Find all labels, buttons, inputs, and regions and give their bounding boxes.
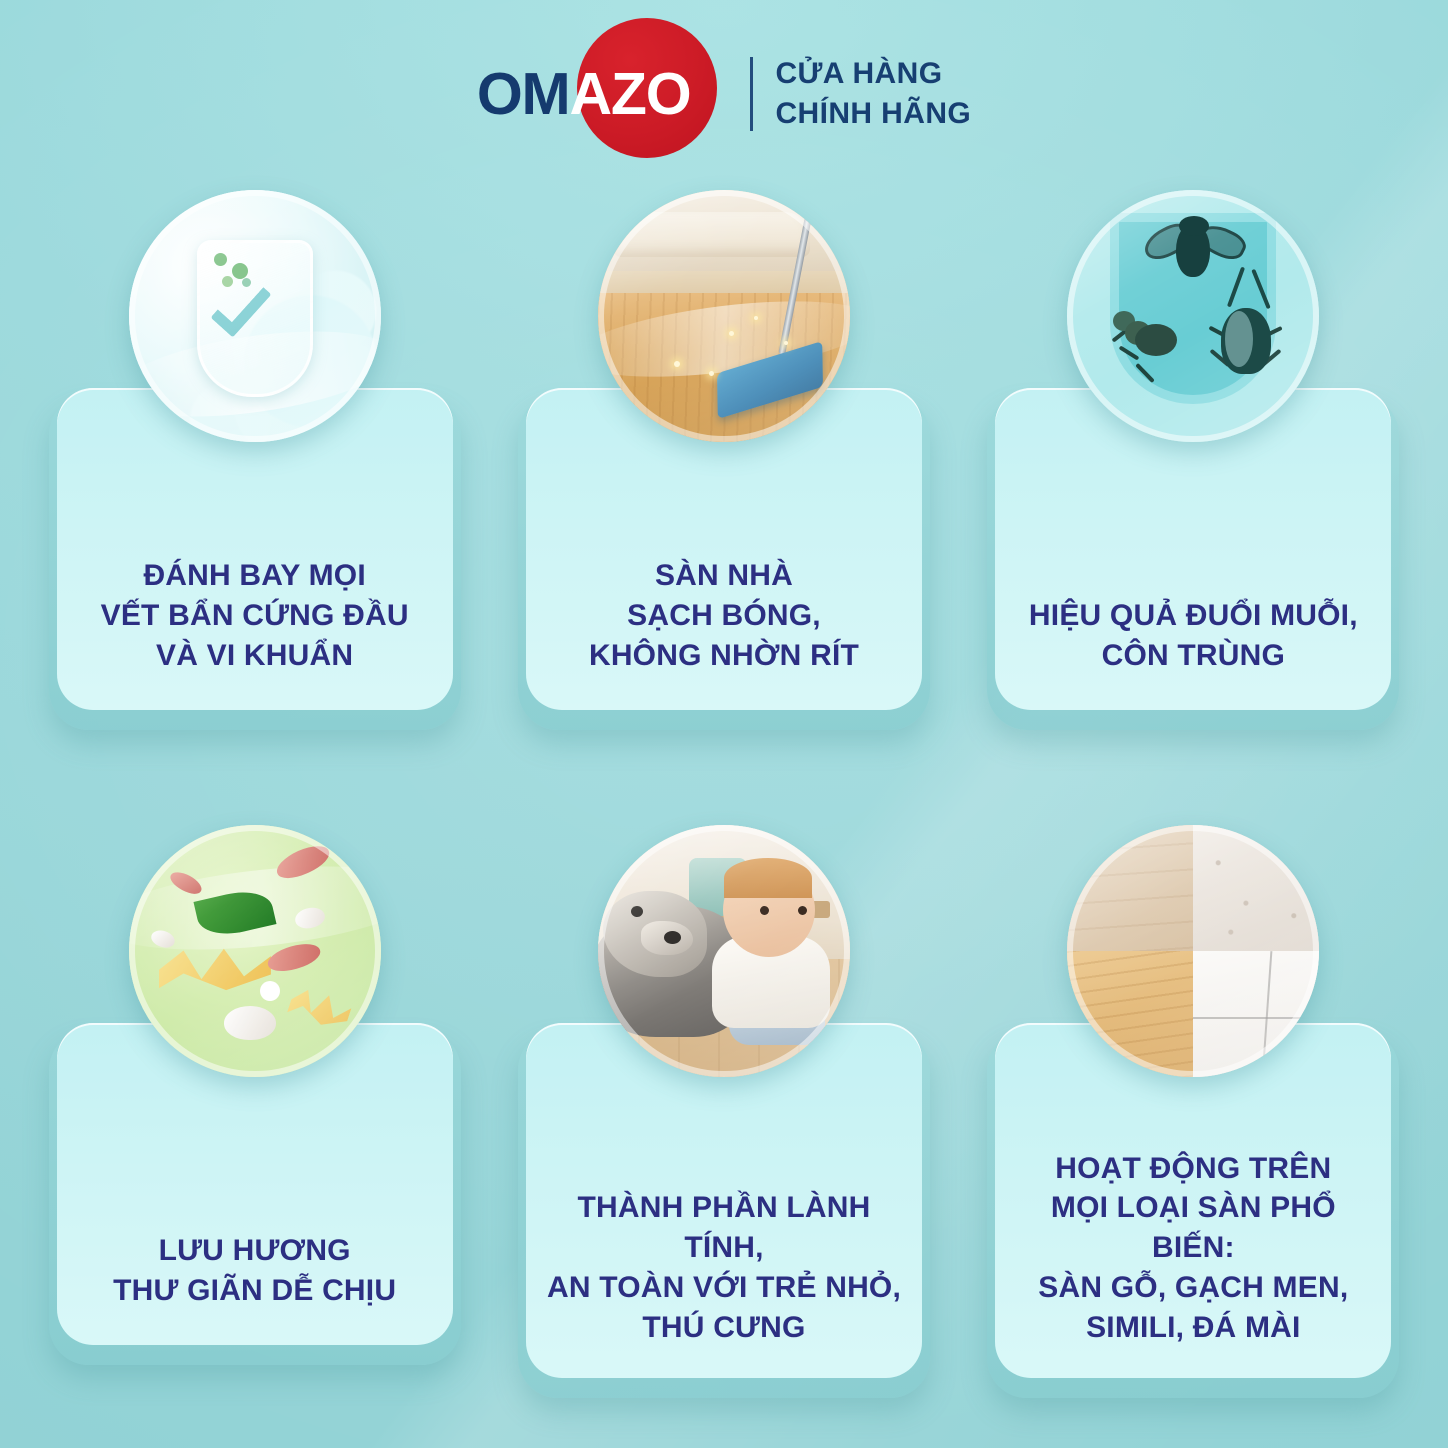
floor-transition-strip: [598, 271, 850, 296]
brand-logo-lockup[interactable]: OMAZO CỬA HÀNG CHÍNH HÃNG: [477, 54, 971, 133]
feature-card-safe-ingredients[interactable]: THÀNH PHẦN LÀNH TÍNH, AN TOÀN VỚI TRẺ NH…: [489, 825, 958, 1415]
roach-shell-icon: [1225, 311, 1253, 367]
brand-header: OMAZO CỬA HÀNG CHÍNH HÃNG: [0, 24, 1448, 164]
floor-sample-terrazzo: [1193, 825, 1319, 951]
fragrance-scene: [129, 825, 381, 1077]
feature-card-stain-bacteria[interactable]: ĐÁNH BAY MỌI VẾT BẨN CỨNG ĐẦU VÀ VI KHUẨ…: [20, 190, 489, 780]
baby-pet-safe-icon: [598, 825, 850, 1077]
bubble-shield-check-icon: [129, 190, 381, 442]
insect-scene: [1067, 190, 1319, 442]
citrus-peel-icon: [286, 983, 354, 1034]
ant-abdomen-icon: [1135, 324, 1177, 356]
brand-tagline: CỬA HÀNG CHÍNH HÃNG: [775, 54, 971, 133]
feature-card-shiny-floor[interactable]: SÀN NHÀ SẠCH BÓNG, KHÔNG NHỜN RÍT: [489, 190, 958, 780]
brand-tagline-line-1: CỬA HÀNG: [775, 54, 971, 94]
baby-hair: [724, 858, 812, 898]
germ-dot: [222, 276, 233, 287]
logo-word-secondary: AZO: [570, 65, 691, 124]
feature-card-all-floor-types[interactable]: HOẠT ĐỘNG TRÊN MỌI LOẠI SÀN PHỔ BIẾN: SÀ…: [959, 825, 1428, 1415]
tile-grout-line: [1193, 1017, 1319, 1019]
omazo-wordmark: OMAZO: [477, 65, 691, 124]
leaf-petals-fragrance-icon: [129, 825, 381, 1077]
citrus-peel-icon: [159, 946, 271, 992]
dog-nose: [664, 931, 681, 944]
floor-types-quadrant-icon: [1067, 825, 1319, 1077]
baby-eye: [760, 906, 769, 915]
floor-sample-white-tile: [1193, 951, 1319, 1077]
baby-eye: [798, 906, 807, 915]
dog-eye: [631, 906, 643, 917]
floor-types-scene: [1067, 825, 1319, 1077]
white-petal-icon: [224, 1006, 276, 1040]
germ-dot: [214, 253, 227, 266]
bubble-backdrop: [129, 190, 381, 442]
tile-grout-line: [1262, 951, 1273, 1077]
sparkle: [674, 361, 680, 367]
logo-divider: [750, 57, 753, 131]
logo-word-primary: OM: [477, 65, 570, 124]
feature-card-relaxing-fragrance[interactable]: LƯU HƯƠNG THƯ GIÃN DỄ CHỊU: [20, 825, 489, 1415]
brand-tagline-line-2: CHÍNH HÃNG: [775, 94, 971, 134]
floor-sample-warm-wood: [1067, 951, 1193, 1077]
floor-sample-light-wood: [1067, 825, 1193, 951]
mop-wood-floor-icon: [598, 190, 850, 442]
insect-shield-icon: [1067, 190, 1319, 442]
feature-card-repel-insects[interactable]: HIỆU QUẢ ĐUỔI MUỖI, CÔN TRÙNG: [959, 190, 1428, 780]
feature-grid: ĐÁNH BAY MỌI VẾT BẨN CỨNG ĐẦU VÀ VI KHUẨ…: [0, 190, 1448, 1415]
tiny-flower-icon: [260, 981, 280, 1001]
pets-scene: [598, 825, 850, 1077]
mop-scene: [598, 190, 850, 442]
